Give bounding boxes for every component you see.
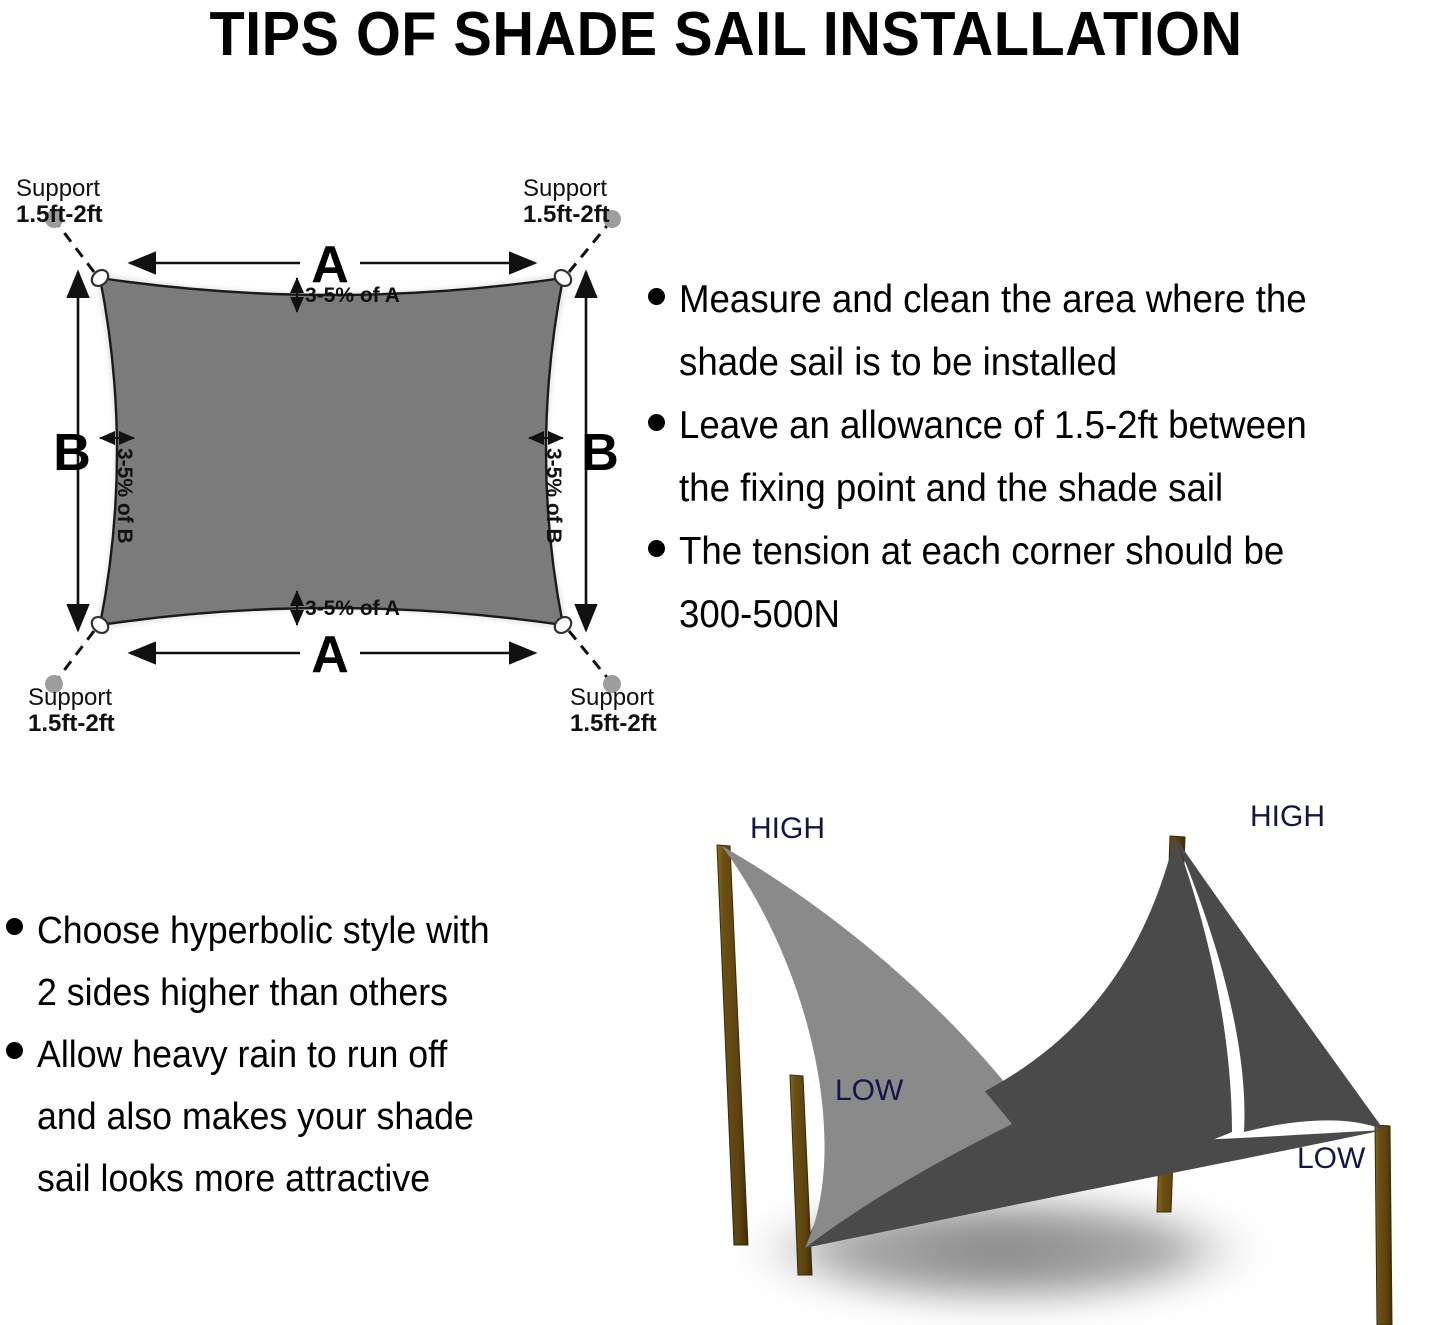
tether-line xyxy=(569,631,610,681)
hyperbolic-style-tips-list: Choose hyperbolic style with 2 sides hig… xyxy=(6,900,646,1210)
list-item-line: and also makes your shade xyxy=(37,1096,474,1138)
support-label-top-right-line1: Support xyxy=(523,175,607,202)
label-low-left: LOW xyxy=(835,1074,904,1107)
hyperbolic-sail-diagram: HIGH HIGH LOW LOW xyxy=(672,780,1452,1325)
post-high-left xyxy=(717,845,748,1245)
list-item-line: Allow heavy rain to run off xyxy=(37,1034,447,1076)
list-item: Choose hyperbolic style with 2 sides hig… xyxy=(6,900,646,1024)
list-item-line: Measure and clean the area where the xyxy=(679,278,1307,321)
list-item: Allow heavy rain to run off and also mak… xyxy=(6,1024,646,1210)
list-item-line: 2 sides higher than others xyxy=(37,972,448,1014)
list-item-text: Leave an allowance of 1.5-2ft between th… xyxy=(679,394,1307,520)
bullet-dot-icon xyxy=(6,1042,23,1059)
list-item-text: The tension at each corner should be 300… xyxy=(679,520,1284,646)
bullet-dot-icon xyxy=(648,288,665,305)
support-label-bottom-left-line2: 1.5ft-2ft xyxy=(28,710,115,737)
curvature-label-bottom: 3-5% of A xyxy=(305,597,400,620)
list-item-text: Choose hyperbolic style with 2 sides hig… xyxy=(37,900,490,1024)
list-item: Leave an allowance of 1.5-2ft between th… xyxy=(648,394,1452,520)
list-item-line: shade sail is to be installed xyxy=(679,341,1117,384)
label-low-right: LOW xyxy=(1297,1142,1366,1175)
bullet-dot-icon xyxy=(648,414,665,431)
sail-shape xyxy=(100,278,563,625)
dim-label-b-left: B xyxy=(53,424,91,482)
support-label-bottom-right-line1: Support xyxy=(570,684,654,711)
tether-line xyxy=(569,222,610,272)
installation-tips-list: Measure and clean the area where the sha… xyxy=(648,268,1452,646)
list-item-line: Leave an allowance of 1.5-2ft between xyxy=(679,404,1307,447)
list-item: Measure and clean the area where the sha… xyxy=(648,268,1452,394)
support-label-top-left-line2: 1.5ft-2ft xyxy=(16,201,103,228)
label-high-right: HIGH xyxy=(1250,800,1325,833)
support-label-bottom-left-line1: Support xyxy=(28,684,112,711)
curvature-label-right: 3-5% of B xyxy=(542,448,565,544)
page-title: TIPS OF SHADE SAIL INSTALLATION xyxy=(51,2,1401,67)
list-item: The tension at each corner should be 300… xyxy=(648,520,1452,646)
support-label-top-right-line2: 1.5ft-2ft xyxy=(523,201,610,228)
bullet-dot-icon xyxy=(6,918,23,935)
label-high-left: HIGH xyxy=(750,812,825,845)
tether-line xyxy=(56,631,94,681)
curvature-label-left: 3-5% of B xyxy=(113,448,136,544)
list-item-line: The tension at each corner should be xyxy=(679,530,1284,573)
support-label-top-left-line1: Support xyxy=(16,175,100,202)
list-item-line: 300-500N xyxy=(679,593,840,636)
list-item-line: the fixing point and the shade sail xyxy=(679,467,1223,510)
list-item-line: sail looks more attractive xyxy=(37,1158,430,1200)
rect-sail-diagram: Support 1.5ft-2ft Support 1.5ft-2ft Supp… xyxy=(0,160,660,740)
support-label-bottom-right-line2: 1.5ft-2ft xyxy=(570,710,657,737)
curvature-label-top: 3-5% of A xyxy=(305,284,400,307)
list-item-text: Allow heavy rain to run off and also mak… xyxy=(37,1024,474,1210)
list-item-line: Choose hyperbolic style with xyxy=(37,910,490,952)
list-item-text: Measure and clean the area where the sha… xyxy=(679,268,1307,394)
dim-label-a-bottom: A xyxy=(311,626,349,684)
tether-line xyxy=(56,222,94,272)
bullet-dot-icon xyxy=(648,540,665,557)
dim-label-b-right: B xyxy=(581,424,619,482)
post-low-right xyxy=(1375,1125,1392,1325)
